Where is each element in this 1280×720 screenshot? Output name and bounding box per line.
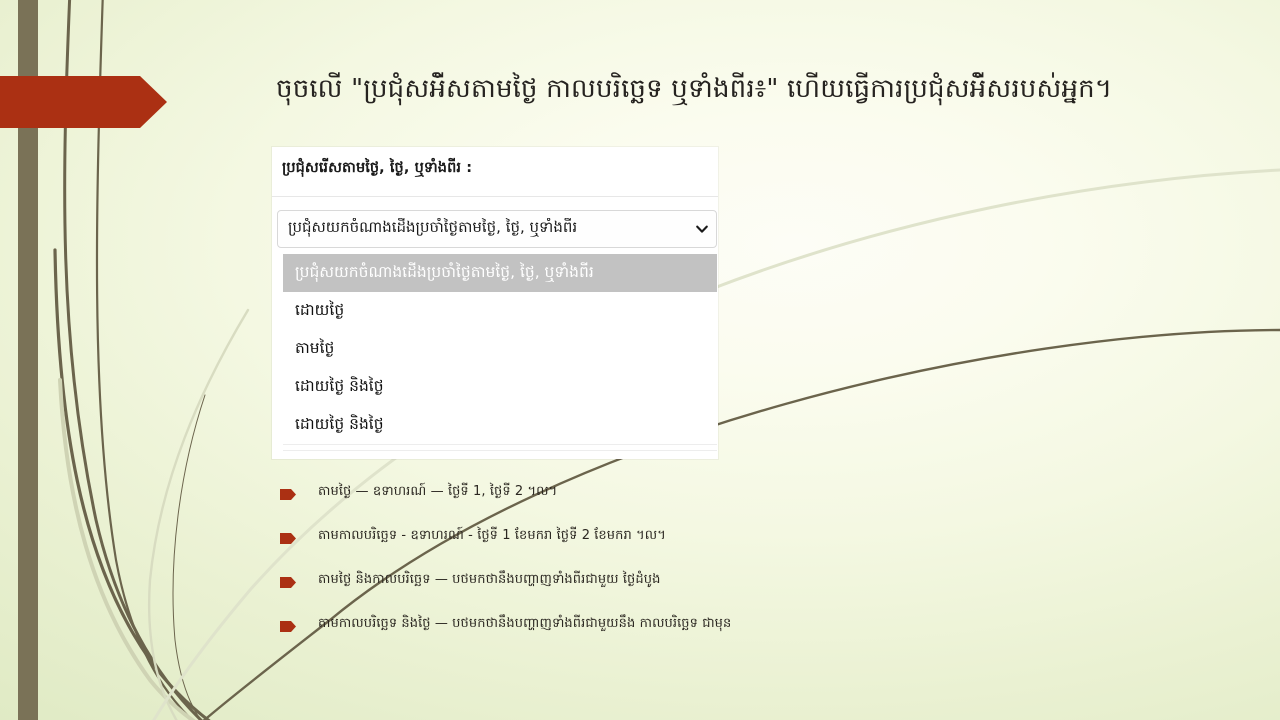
red-arrow-banner — [0, 76, 167, 128]
option-row[interactable]: តាមថ្ងៃ — [283, 330, 717, 368]
page-title: ចុចលើ "ប្រជុំសអំីសតាមថ្ងៃ កាលបរិច្ឆេទ ឬទ… — [276, 72, 1266, 107]
sort-field-label: ប្រជុំសរេីសតាមថ្ងៃ, ថ្ងៃ, ឬទាំងពីរ : — [282, 159, 472, 180]
bullet-list: តាមថ្ងៃ — ឧទាហរណ៍ — ថ្ងៃទី 1, ថ្ងៃទី 2 ។… — [280, 484, 1180, 660]
arrow-bullet-icon — [280, 489, 296, 500]
option-row[interactable]: ដោយថ្ងៃ និងថ្ងៃ — [283, 368, 717, 406]
list-item-text: តាមថ្ងៃ និងកាលបរិច្ឆេទ — បថមកថានឹងបញ្ហាញ… — [318, 572, 1180, 588]
list-item: តាមកាលបរិច្ឆេទ និងថ្ងៃ — បថមកថានឹងបញ្ហាញ… — [280, 616, 1180, 660]
chevron-down-icon[interactable] — [694, 221, 710, 237]
option-list-tail — [283, 450, 717, 459]
option-row[interactable]: ដោយថ្ងៃ — [283, 292, 717, 330]
option-row[interactable]: ប្រជុំសយកចំណាងដេីងប្រចាំថ្ងៃតាមថ្ងៃ, ថ្ង… — [283, 254, 717, 292]
list-item: តាមថ្ងៃ — ឧទាហរណ៍ — ថ្ងៃទី 1, ថ្ងៃទី 2 ។… — [280, 484, 1180, 528]
option-label: តាមថ្ងៃ — [295, 338, 334, 361]
slide-canvas: ចុចលើ "ប្រជុំសអំីសតាមថ្ងៃ កាលបរិច្ឆេទ ឬទ… — [0, 0, 1280, 720]
arrow-bullet-icon — [280, 577, 296, 588]
list-item-text: តាមកាលបរិច្ឆេទ និងថ្ងៃ — បថមកថានឹងបញ្ហាញ… — [318, 616, 1180, 632]
sort-mode-select-value: ប្រជុំសយកចំណាងដេីងប្រចាំថ្ងៃតាមថ្ងៃ, ថ្ង… — [288, 218, 690, 240]
embedded-screenshot-card: ប្រជុំសរេីសតាមថ្ងៃ, ថ្ងៃ, ឬទាំងពីរ : ប្រ… — [272, 147, 718, 459]
card-divider — [272, 196, 718, 197]
list-item: តាមកាលបរិច្ឆេទ - ឧទាហរណ៍ - ថ្ងៃទី 1 ខែមក… — [280, 528, 1180, 572]
option-label: ប្រជុំសយកចំណាងដេីងប្រចាំថ្ងៃតាមថ្ងៃ, ថ្ង… — [295, 262, 594, 285]
option-label: ដោយថ្ងៃ និងថ្ងៃ — [295, 414, 384, 437]
option-label: ដោយថ្ងៃ — [295, 300, 344, 323]
list-item-text: តាមថ្ងៃ — ឧទាហរណ៍ — ថ្ងៃទី 1, ថ្ងៃទី 2 ។… — [318, 484, 1180, 500]
option-row[interactable]: ដោយថ្ងៃ និងថ្ងៃ — [283, 406, 717, 444]
list-item-text: តាមកាលបរិច្ឆេទ - ឧទាហរណ៍ - ថ្ងៃទី 1 ខែមក… — [318, 528, 1180, 544]
arrow-bullet-icon — [280, 533, 296, 544]
sort-mode-select[interactable]: ប្រជុំសយកចំណាងដេីងប្រចាំថ្ងៃតាមថ្ងៃ, ថ្ង… — [277, 210, 717, 248]
list-item: តាមថ្ងៃ និងកាលបរិច្ឆេទ — បថមកថានឹងបញ្ហាញ… — [280, 572, 1180, 616]
sort-mode-option-list[interactable]: ប្រជុំសយកចំណាងដេីងប្រចាំថ្ងៃតាមថ្ងៃ, ថ្ង… — [283, 254, 717, 445]
arrow-bullet-icon — [280, 621, 296, 632]
option-label: ដោយថ្ងៃ និងថ្ងៃ — [295, 376, 384, 399]
